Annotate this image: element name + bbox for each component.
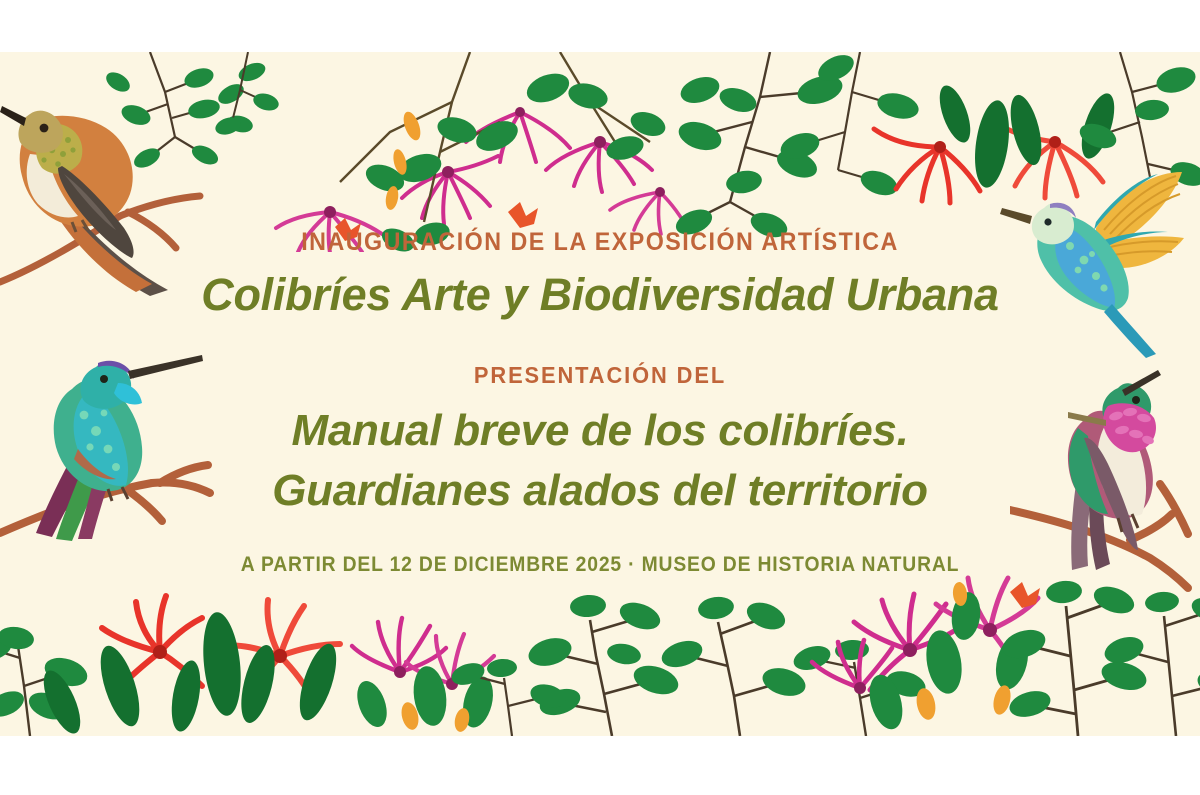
magenta-flowers-bottom-left-center [352,618,498,733]
green-leaf-branch-center2 [806,52,892,180]
head [18,111,62,153]
magenta-flowers-bottom-right [812,578,1040,733]
poster-text-block: INAUGURACIÓN DE LA EXPOSICIÓN ARTÍSTICA … [0,230,1200,575]
body [20,116,133,227]
green-leaves-center [362,68,760,252]
green-sprig-far-left [0,646,60,736]
gorget-speckles [41,131,75,167]
book-title: Manual breve de los colibríes. Guardiane… [0,401,1200,520]
green-leaf-branch-left [140,52,200,155]
bottom-decoration-band [0,556,1200,736]
green-sprig-bottom-right-2 [1130,614,1200,736]
wing-shade [64,174,116,230]
top-decoration-band [0,52,1200,252]
green-leaves-left [103,59,268,171]
green-leaf-branch-right [1104,52,1182,177]
exhibition-eyebrow: INAUGURACIÓN DE LA EXPOSICIÓN ARTÍSTICA [42,230,1158,255]
book-title-line-1: Manual breve de los colibríes. [0,401,1200,460]
poster-canvas: INAUGURACIÓN DE LA EXPOSICIÓN ARTÍSTICA … [0,0,1200,795]
dark-green-leaves-top-right [933,82,1120,190]
flower-stems-top [340,52,650,222]
crown [1050,203,1076,218]
book-title-line-2: Guardianes alados del territorio [0,461,1200,520]
yellow-orange-buds-top [384,110,424,211]
presentation-eyebrow: PRESENTACIÓN DEL [30,364,1170,387]
eye [1044,218,1051,225]
eye [40,124,49,133]
beak [1000,208,1032,224]
dark-green-leaves-bottom-left [36,610,343,736]
green-sprig-bottom-left-extra [474,676,540,736]
green-sprig-bottom-center-2 [688,620,776,736]
gorget [36,124,82,174]
poster-background: INAUGURACIÓN DE LA EXPOSICIÓN ARTÍSTICA … [0,52,1200,736]
green-sprig-bottom-center-1 [556,620,648,736]
red-flowers-bottom-left [36,596,343,736]
belly [27,154,78,218]
red-flowers-top-right [874,82,1121,203]
beak [0,106,26,126]
exhibition-title: Colibríes Arte y Biodiversidad Urbana [0,271,1200,318]
green-sprig-bottom-right-1 [1030,604,1116,736]
green-sprig-bottom-center-3 [818,660,898,736]
green-leaf-branch-center [700,52,812,220]
date-venue-line: A PARTIR DEL 12 DE DICIEMBRE 2025 · MUSE… [48,554,1152,575]
green-branch-left2 [232,52,262,122]
